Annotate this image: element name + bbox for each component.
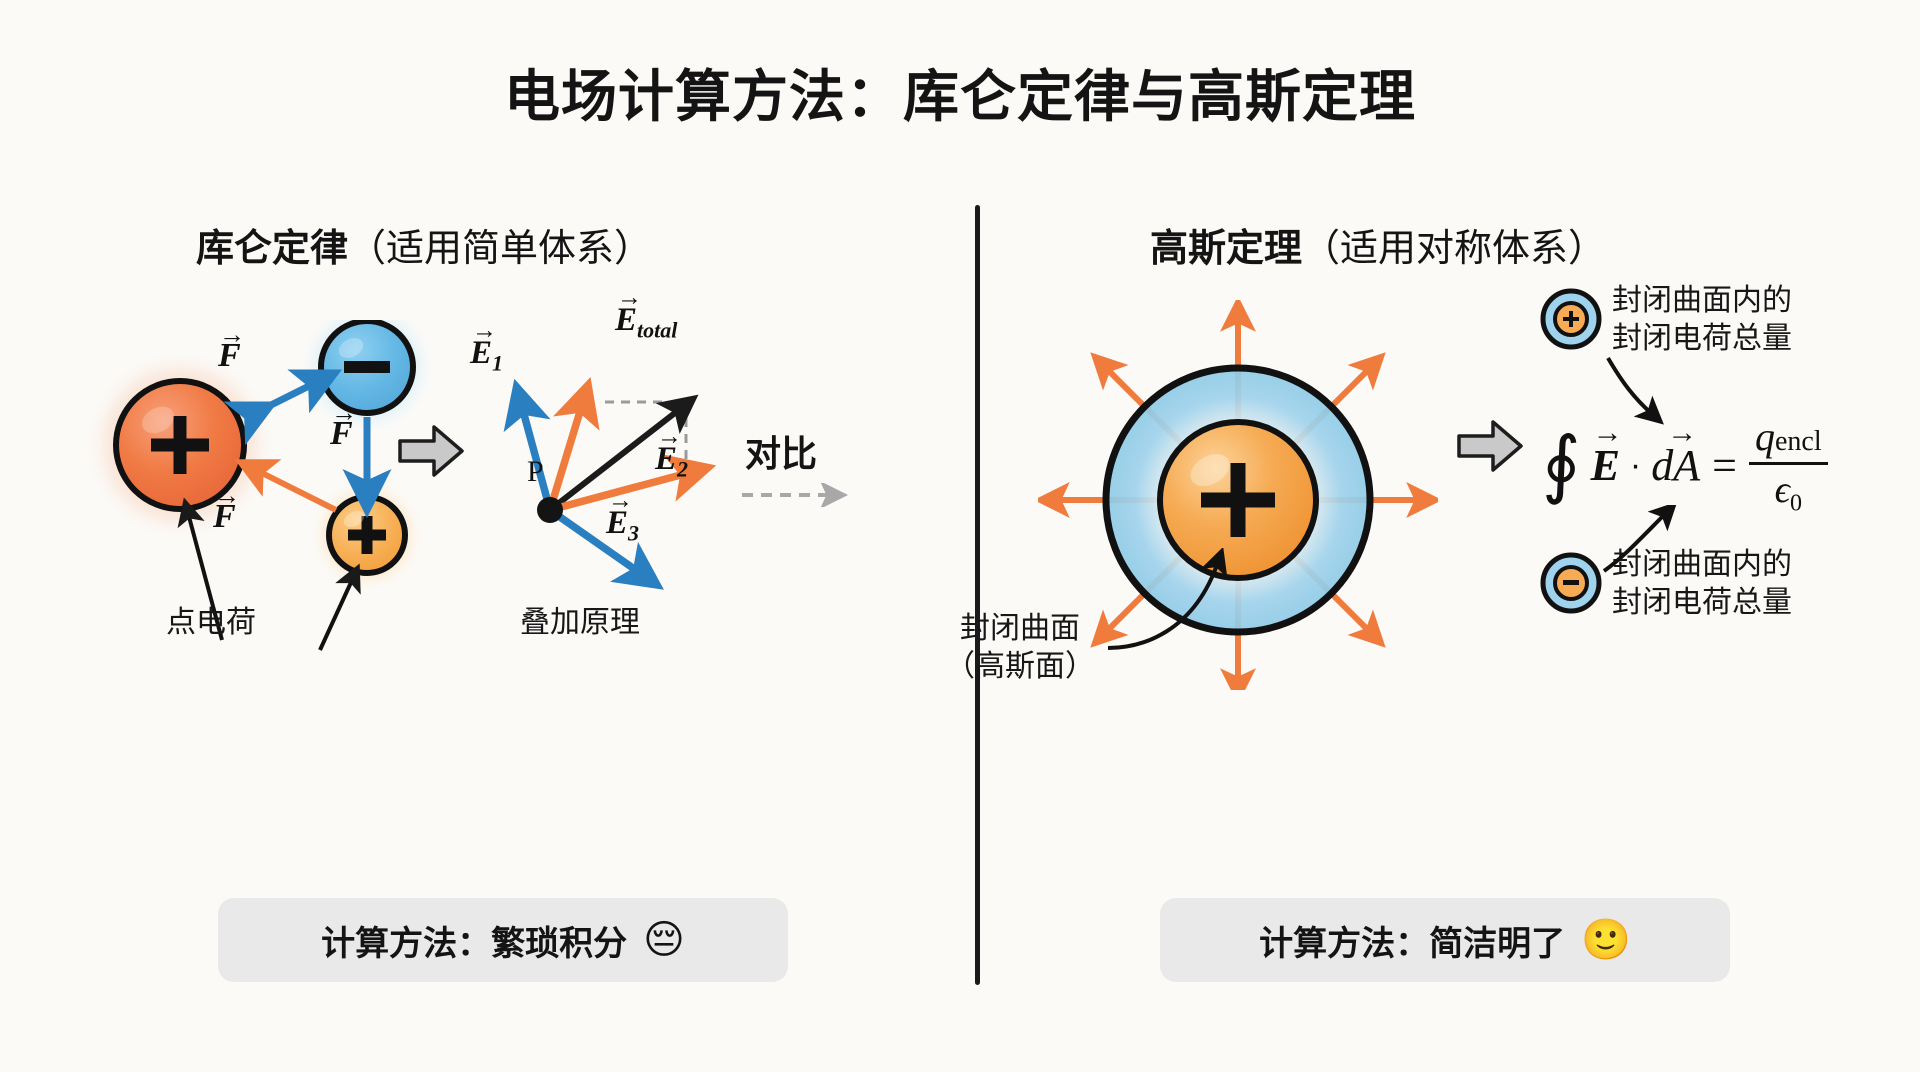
formula-dot: · xyxy=(1630,446,1641,485)
right-heading-paren: （适用对称体系） xyxy=(1302,228,1606,270)
formula-dA-vector: → dA xyxy=(1651,440,1700,491)
field-point-dot xyxy=(537,497,563,523)
caption-point-charge: 点电荷 xyxy=(166,604,256,642)
point-charges-illustration xyxy=(70,320,540,710)
minus-glyph xyxy=(344,361,390,373)
page-title: 电场计算方法：库仑定律与高斯定理 xyxy=(0,52,1920,133)
label-field-point-P: P xyxy=(527,455,544,489)
force-arrow-repel xyxy=(256,470,336,510)
force-label-1: → F xyxy=(218,337,241,375)
happy-face-emoji: 🙂 xyxy=(1581,920,1631,960)
contour-integral-symbol: ∮ xyxy=(1542,432,1581,499)
label-E-total: → Etotal xyxy=(615,302,677,344)
pointer-to-point-charge-b xyxy=(320,578,353,650)
panel-divider xyxy=(975,205,980,985)
caption-closed-surface-line1: 封闭曲面 xyxy=(945,610,1095,648)
poster-canvas: 电场计算方法：库仑定律与高斯定理 库仑定律（适用简单体系） 高斯定理（适用对称体… xyxy=(0,0,1920,1072)
summary-bar-gauss: 计算方法：简洁明了 🙂 xyxy=(1160,898,1730,982)
note-positive: 封闭曲面内的 封闭电荷总量 xyxy=(1612,282,1792,359)
sad-face-emoji: 😔 xyxy=(643,920,685,960)
caption-superposition: 叠加原理 xyxy=(520,604,640,642)
force-label-3: → F xyxy=(213,498,236,536)
pointer-positive-to-formula xyxy=(1600,352,1690,432)
left-heading-main: 库仑定律 xyxy=(196,228,348,270)
note-positive-line1: 封闭曲面内的 xyxy=(1612,282,1792,320)
left-panel-heading: 库仑定律（适用简单体系） xyxy=(196,217,652,272)
formula-numerator: qencl xyxy=(1749,413,1828,462)
summary-bar-coulomb: 计算方法：繁琐积分 😔 xyxy=(218,898,788,982)
label-E3: → E3 xyxy=(606,505,639,547)
label-E1: → E1 xyxy=(470,335,503,377)
label-E2: → E2 xyxy=(655,441,688,483)
summary-text-coulomb: 计算方法：繁琐积分 xyxy=(321,916,627,965)
formula-fraction: qencl ϵ0 xyxy=(1749,413,1828,518)
transition-arrow-right xyxy=(1455,415,1525,477)
caption-closed-surface-line2: （高斯面） xyxy=(945,648,1095,686)
formula-denominator: ϵ0 xyxy=(1749,465,1828,518)
compare-dashed-arrow xyxy=(740,483,850,507)
force-label-2: → F xyxy=(330,415,353,453)
caption-closed-surface: 封闭曲面 （高斯面） xyxy=(945,610,1095,687)
pointer-negative-to-formula xyxy=(1590,505,1700,577)
transition-arrow-left xyxy=(396,420,466,482)
compare-label: 对比 xyxy=(745,425,817,477)
summary-text-gauss: 计算方法：简洁明了 xyxy=(1259,916,1565,965)
note-negative-line2: 封闭电荷总量 xyxy=(1612,584,1792,622)
annotation-positive xyxy=(1540,288,1602,350)
formula-E-vector: → E xyxy=(1591,440,1620,491)
pointer-to-closed-surface xyxy=(1098,548,1258,658)
badge-positive-icon xyxy=(1540,288,1602,350)
left-heading-paren: （适用简单体系） xyxy=(348,228,652,270)
formula-equals: = xyxy=(1712,440,1737,491)
right-heading-main: 高斯定理 xyxy=(1150,228,1302,270)
right-panel-heading: 高斯定理（适用对称体系） xyxy=(1150,217,1606,272)
